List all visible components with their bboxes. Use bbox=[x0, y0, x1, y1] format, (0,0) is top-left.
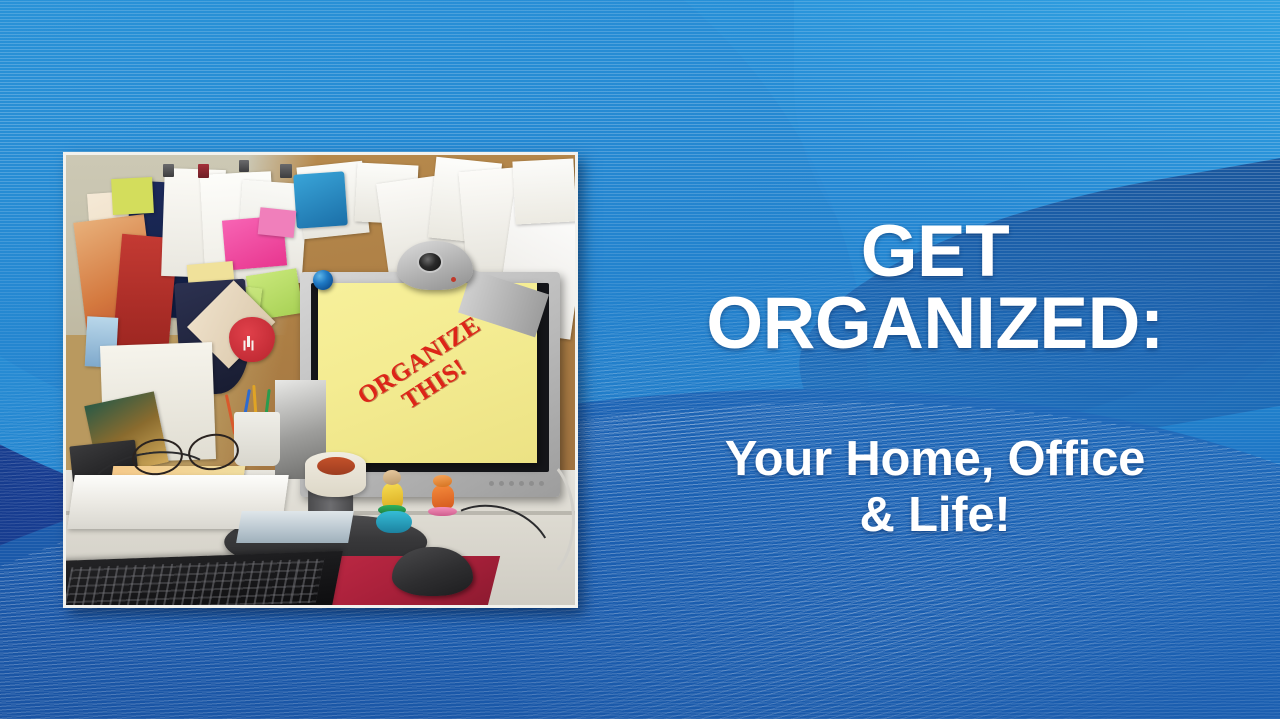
figurine-yellow bbox=[376, 470, 407, 515]
pink-sticky-note bbox=[258, 207, 296, 238]
sticky-note-text: ORGANIZE THIS! bbox=[353, 312, 501, 435]
subtitle-line-2: & Life! bbox=[612, 488, 1258, 544]
figurine-base bbox=[376, 511, 412, 534]
red-tag bbox=[229, 317, 275, 362]
webcam-indicator-light bbox=[451, 277, 456, 282]
title-line-2: ORGANIZED: bbox=[610, 288, 1260, 360]
subtitle-line-1: Your Home, Office bbox=[612, 432, 1258, 488]
desk-photo: ORGANIZE THIS! bbox=[66, 155, 575, 605]
clutter-paper bbox=[512, 158, 575, 224]
title-line-1: GET bbox=[610, 216, 1260, 288]
keyboard bbox=[66, 551, 343, 605]
slide-canvas: ORGANIZE THIS! bbox=[0, 0, 1280, 719]
figurine-yellow-base-blue bbox=[376, 511, 412, 534]
webcam-lens bbox=[417, 251, 443, 273]
slide-title: GET ORGANIZED: bbox=[610, 216, 1260, 359]
binder-clip bbox=[280, 164, 292, 178]
tape-roll-core bbox=[317, 457, 355, 475]
cd-case bbox=[236, 511, 354, 543]
tape-roll bbox=[305, 452, 366, 497]
binder-clip bbox=[239, 160, 249, 172]
pen-cup bbox=[234, 412, 280, 466]
blue-pushpin bbox=[313, 270, 333, 290]
figurine-base bbox=[428, 507, 457, 516]
clutter-pouch bbox=[293, 171, 348, 228]
keyboard-keys bbox=[66, 558, 324, 605]
binder-clip bbox=[163, 164, 174, 177]
clutter-note bbox=[111, 176, 154, 214]
figurine-head bbox=[383, 470, 401, 485]
desk-photo-frame: ORGANIZE THIS! bbox=[63, 152, 578, 608]
figurine-body bbox=[432, 485, 455, 509]
figurine-orange bbox=[427, 475, 458, 516]
binder-clip bbox=[198, 164, 209, 178]
slide-subtitle: Your Home, Office & Life! bbox=[612, 432, 1258, 544]
